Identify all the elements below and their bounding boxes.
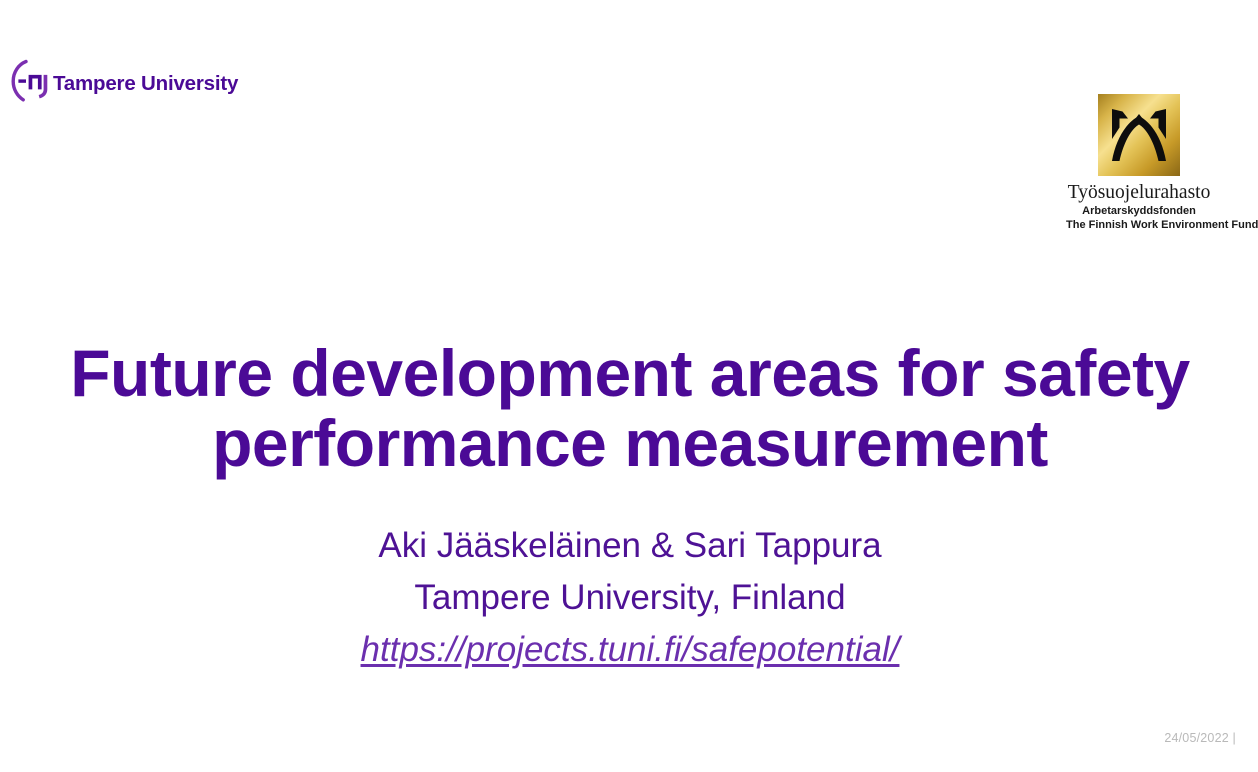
authors-line: Aki Jääskeläinen & Sari Tappura [60,520,1200,572]
funder-name-en: The Finnish Work Environment Fund [1066,219,1212,232]
tampere-university-logo: Tampere University [10,58,238,104]
page-title: Future development areas for safety perf… [60,338,1200,478]
project-link-row: https://projects.tuni.fi/safepotential/ [60,624,1200,676]
tyosuojelurahasto-emblem-icon [1098,94,1180,176]
page-title-line-1: Future development areas for safety [60,338,1200,408]
tampere-university-mark-icon [10,59,52,103]
page-title-line-2: performance measurement [60,408,1200,478]
tyosuojelurahasto-logo: Työsuojelurahasto Arbetarskyddsfonden Th… [1066,94,1212,232]
tampere-university-wordmark: Tampere University [53,74,238,95]
slide-date-footer: 24/05/2022 | [1164,731,1236,745]
subtitle-block: Aki Jääskeläinen & Sari Tappura Tampere … [60,520,1200,676]
slide-canvas: Tampere University [0,0,1258,772]
affiliation-line: Tampere University, Finland [60,572,1200,624]
project-link[interactable]: https://projects.tuni.fi/safepotential/ [361,624,900,676]
funder-name-fi: Työsuojelurahasto [1066,183,1212,203]
funder-name-sv: Arbetarskyddsfonden [1066,205,1212,218]
